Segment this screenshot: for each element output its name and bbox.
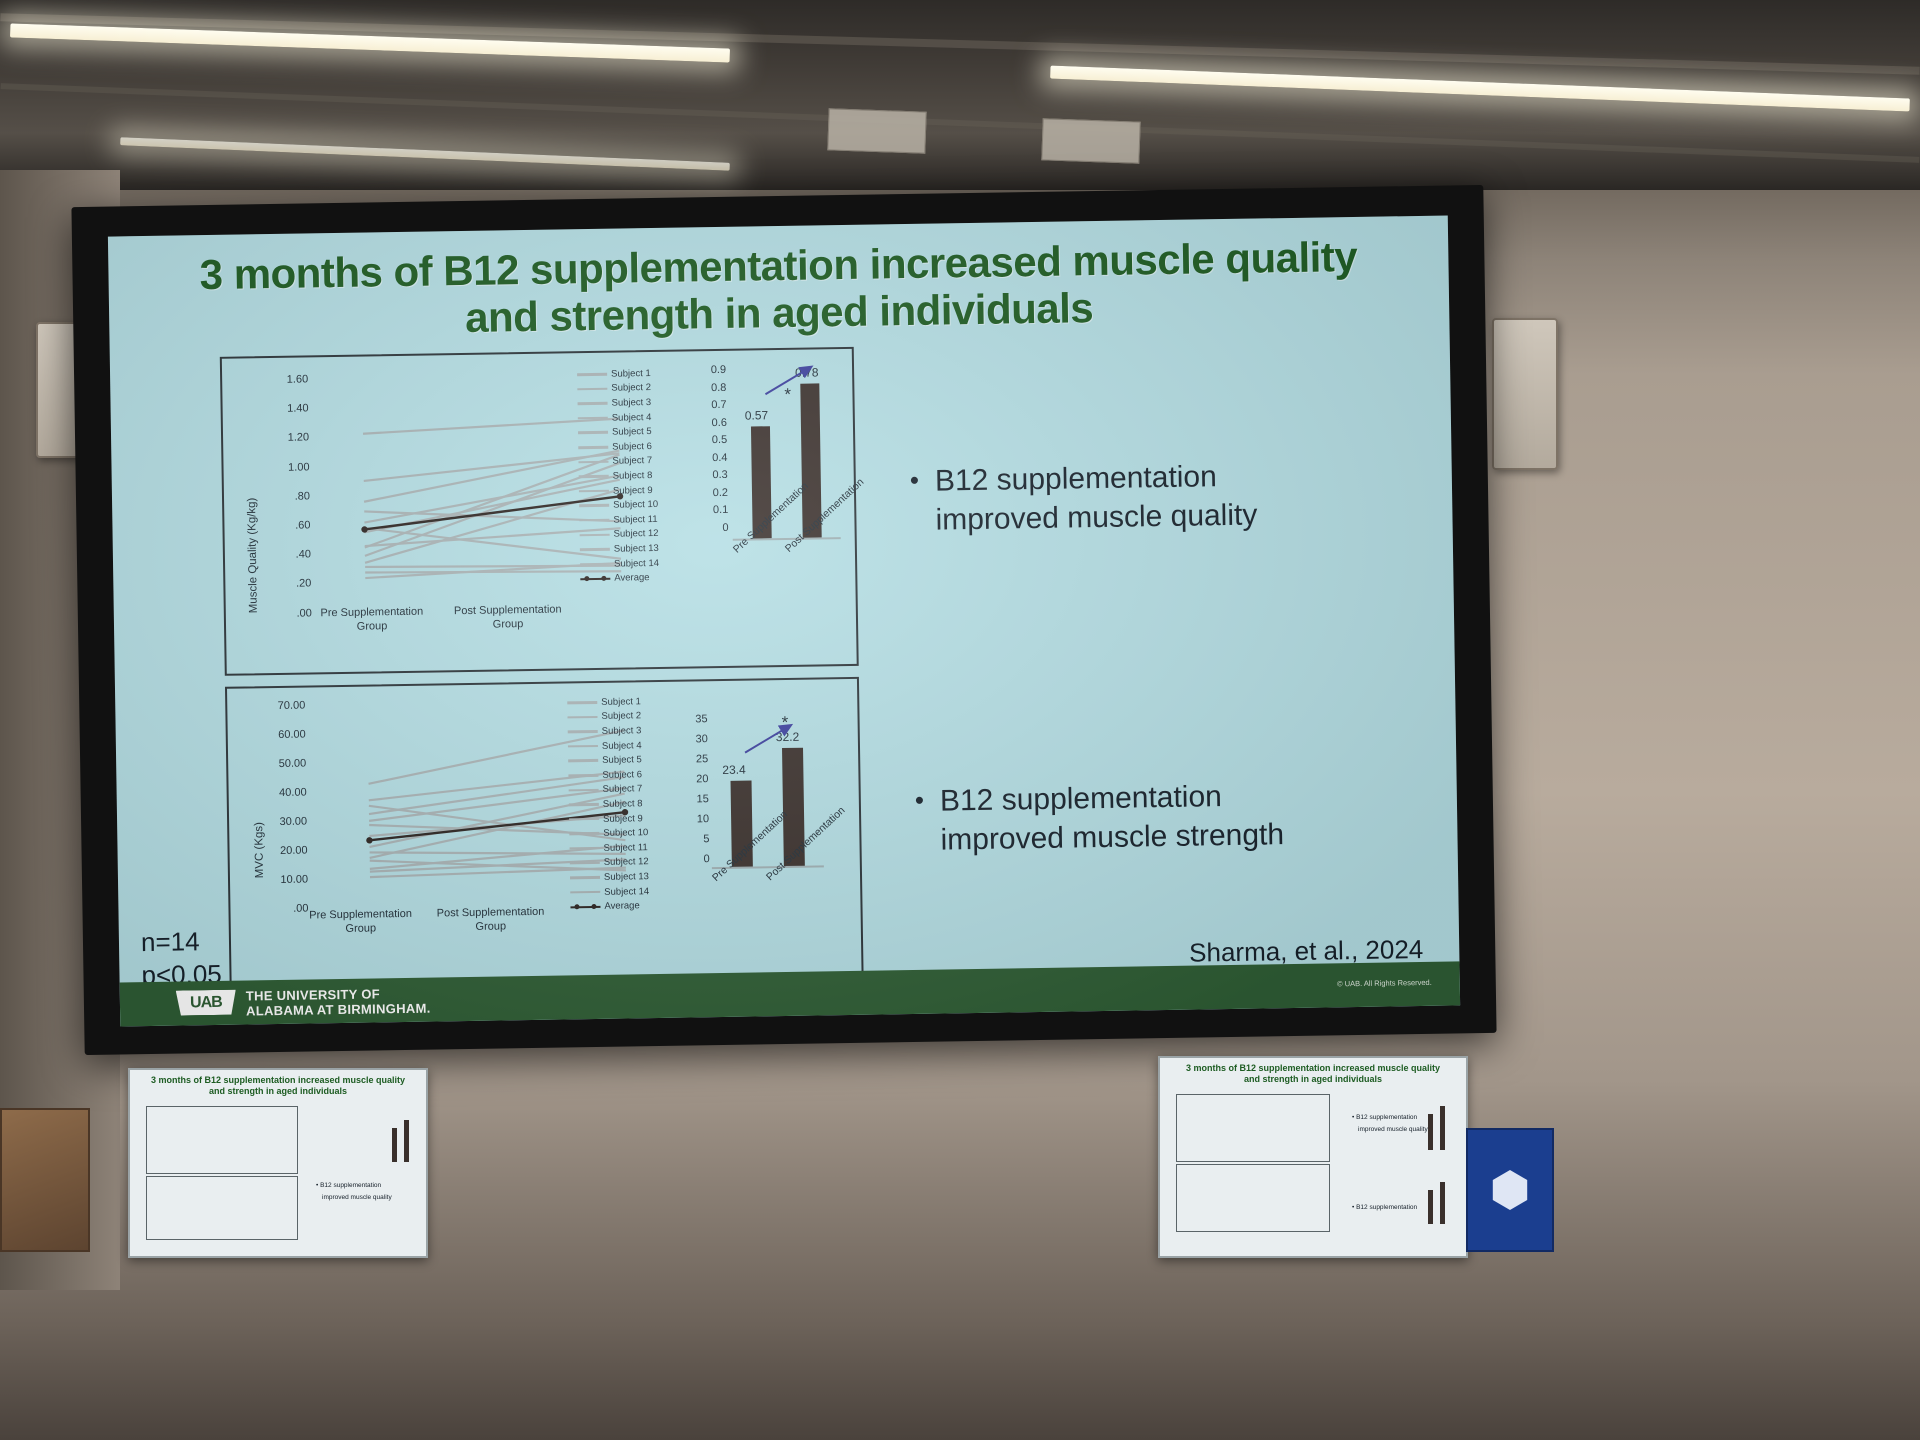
bar-y-tick: 35 [681, 713, 707, 725]
average-marker [366, 837, 372, 843]
legend-line-icon [569, 818, 599, 821]
legend-line-icon [568, 730, 598, 733]
chart-panel-muscle-quality: Muscle Quality (Kg/kg) 1.601.401.201.00.… [220, 347, 859, 676]
legend-label: Subject 1 [611, 368, 651, 380]
legend-label: Subject 3 [602, 725, 642, 737]
legend-line-icon [570, 847, 600, 850]
university-line-2: ALABAMA AT BIRMINGHAM. [246, 1001, 431, 1019]
legend-label: Subject 13 [604, 871, 649, 883]
x-tick-pre-line2: Group [302, 619, 442, 635]
copyright-notice: © UAB. All Rights Reserved. [1337, 978, 1432, 988]
legend-item: Subject 10 [569, 826, 648, 842]
legend-label: Subject 5 [612, 426, 652, 438]
monitor-right-mini-bar-3 [1428, 1190, 1433, 1224]
legend-label: Subject 7 [603, 784, 643, 796]
bar-label-pre-muscle-quality: 0.57 [745, 408, 769, 422]
bar-y-tick: 0.9 [700, 364, 726, 376]
legend-label: Subject 12 [614, 528, 659, 540]
x-tick-pre-line1: Pre Supplementation [302, 605, 442, 621]
x-tick-pre-mvc: Pre Supplementation Group [290, 908, 430, 938]
legend-item: Subject 5 [568, 753, 647, 769]
legend-item: Subject 13 [580, 541, 659, 557]
monitor-left-title-line-2: and strength in aged individuals [130, 1086, 426, 1097]
legend-line-icon [567, 716, 597, 719]
legend-item: Subject 10 [579, 497, 658, 513]
monitor-right-title-line-2: and strength in aged individuals [1160, 1074, 1466, 1085]
legend-label: Subject 8 [613, 470, 653, 482]
legend-muscle-quality: Subject 1Subject 2Subject 3Subject 4Subj… [577, 366, 659, 586]
bar-y-tick: 0.8 [700, 381, 726, 393]
monitor-right-mini-bar-4 [1440, 1182, 1445, 1224]
legend-item: Subject 6 [568, 767, 647, 783]
legend-label: Subject 11 [603, 842, 647, 854]
bar-y-tick: 5 [683, 833, 709, 845]
legend-label: Subject 6 [602, 769, 642, 781]
bar-y-tick: 0.5 [701, 434, 727, 446]
legend-label: Subject 2 [601, 711, 641, 723]
bar-label-pre-mvc: 23.4 [722, 763, 746, 777]
legend-item: Subject 9 [579, 483, 658, 499]
legend-line-icon [580, 533, 610, 536]
legend-line-icon [579, 475, 609, 478]
bar-y-tick: 0.3 [702, 469, 728, 481]
monitor-left-mini-bar-2 [404, 1120, 409, 1162]
legend-item: Subject 1 [567, 694, 646, 710]
bullet-text-2: B12 supplementation improved muscle stre… [940, 776, 1285, 859]
trend-arrow-icon-mvc [742, 720, 799, 757]
monitor-left-bullet-1: • B12 supplementation [316, 1182, 381, 1191]
bullet-1-line-1: B12 supplementation [935, 460, 1217, 497]
legend-line-icon [578, 460, 608, 463]
y-tick: 1.40 [261, 403, 309, 416]
monitor-left-title-line-1: 3 months of B12 supplementation increase… [130, 1075, 426, 1086]
legend-item: Subject 12 [570, 855, 649, 871]
bar-y-ticks-mvc: 35302520151050 [677, 705, 837, 708]
legend-label: Subject 14 [614, 557, 659, 569]
legend-item: Subject 1 [577, 366, 656, 382]
legend-label: Subject 4 [602, 740, 642, 752]
legend-mvc: Subject 1Subject 2Subject 3Subject 4Subj… [567, 694, 649, 914]
legend-item: Subject 2 [577, 381, 656, 397]
legend-line-icon [568, 759, 598, 762]
legend-label: Subject 6 [612, 441, 652, 453]
legend-line-icon [577, 387, 607, 390]
legend-line-icon [578, 402, 608, 405]
x-tick-post-line1: Post Supplementation [438, 603, 578, 619]
bar-chart-mvc: 35302520151050 23.4 32.2 * Pre Supplemen… [677, 705, 840, 927]
legend-label: Subject 9 [603, 813, 643, 825]
bar-y-tick: 0.4 [701, 451, 727, 463]
ceiling-speaker-2 [1041, 118, 1140, 163]
bullet-marker-1: • [910, 462, 920, 540]
bar-y-tick: 0.1 [702, 504, 728, 516]
legend-label: Subject 3 [611, 397, 651, 409]
legend-line-icon [570, 862, 600, 865]
legend-label: Subject 11 [613, 514, 657, 526]
legend-label: Subject 10 [603, 827, 648, 839]
legend-item: Subject 4 [578, 410, 657, 426]
legend-label: Subject 13 [614, 543, 659, 555]
legend-line-icon [579, 504, 609, 507]
legend-average-line-icon [580, 577, 610, 579]
legend-item: Subject 4 [568, 738, 647, 754]
bar-y-tick: 0 [702, 521, 728, 533]
x-tick-pre-mvc-line2: Group [291, 921, 431, 937]
significance-star-muscle-quality: * [784, 386, 791, 403]
legend-item: Subject 5 [578, 424, 657, 440]
legend-line-icon [570, 891, 600, 894]
x-tick-post-mvc: Post Supplementation Group [420, 906, 560, 936]
legend-line-icon [569, 789, 599, 792]
legend-item: Average [580, 570, 659, 586]
sign-hex-icon [1490, 1170, 1530, 1210]
significance-star-mvc: * [781, 714, 788, 731]
monitor-right-title: 3 months of B12 supplementation increase… [1160, 1063, 1466, 1085]
legend-line-icon [569, 832, 599, 835]
bullet-text-1: B12 supplementation improved muscle qual… [935, 457, 1258, 540]
y-tick: 30.00 [259, 816, 307, 829]
legend-item: Subject 3 [568, 723, 647, 739]
legend-label: Subject 8 [603, 798, 643, 810]
x-tick-pre-mvc-line1: Pre Supplementation [290, 908, 430, 924]
bar-y-tick: 30 [682, 733, 708, 745]
monitor-right-chart-panel [1176, 1094, 1330, 1162]
x-tick-post-line2: Group [438, 617, 578, 633]
monitor-left-bullet-2: improved muscle quality [322, 1194, 392, 1203]
projector-screen-frame: 3 months of B12 supplementation increase… [71, 185, 1496, 1055]
y-axis-label-muscle-quality: Muscle Quality (Kg/kg) [246, 498, 260, 614]
legend-label: Subject 14 [604, 886, 649, 898]
legend-line-icon [568, 745, 598, 748]
bar-y-tick: 25 [682, 753, 708, 765]
y-tick: .80 [262, 490, 310, 503]
wall-speaker-right [1492, 318, 1558, 470]
page-title: 3 months of B12 supplementation increase… [108, 232, 1449, 348]
legend-line-icon [578, 431, 608, 434]
bullet-muscle-strength: • B12 supplementation improved muscle st… [915, 775, 1386, 860]
bullet-marker-2: • [915, 782, 925, 860]
legend-item: Subject 14 [580, 556, 659, 572]
bar-chart-muscle-quality: 0.90.80.70.60.50.40.30.20.10 0.57 0.78 *… [692, 359, 846, 591]
x-tick-post-mvc-line2: Group [421, 919, 561, 935]
bar-y-ticks-muscle-quality: 0.90.80.70.60.50.40.30.20.10 [692, 359, 842, 361]
bullet-2-line-1: B12 supplementation [940, 780, 1222, 817]
y-tick: .40 [263, 549, 311, 562]
monitor-left-chart-panel-2 [146, 1176, 298, 1240]
confidence-monitor-left: 3 months of B12 supplementation increase… [128, 1068, 428, 1258]
university-name: THE UNIVERSITY OF ALABAMA AT BIRMINGHAM. [246, 986, 431, 1020]
legend-item: Subject 11 [579, 512, 658, 528]
legend-label: Subject 9 [613, 485, 653, 497]
legend-item: Subject 11 [569, 840, 648, 856]
legend-line-icon [580, 548, 610, 551]
legend-item: Subject 7 [569, 782, 648, 798]
y-tick: 20.00 [259, 845, 307, 858]
legend-line-icon [568, 774, 598, 777]
legend-item: Subject 9 [569, 811, 648, 827]
blue-wall-sign [1466, 1128, 1554, 1252]
bar-y-tick: 0.2 [702, 486, 728, 498]
bar-y-tick: 0.7 [701, 399, 727, 411]
y-tick: .20 [263, 578, 311, 591]
y-tick: 70.00 [257, 700, 305, 713]
legend-item: Subject 14 [570, 884, 649, 900]
lecture-room-background: 3 months of B12 supplementation increase… [0, 0, 1920, 1440]
monitor-left-chart-panel [146, 1106, 298, 1174]
monitor-right-bullet-1: • B12 supplementation [1352, 1114, 1417, 1123]
legend-item: Subject 13 [570, 869, 649, 885]
bar-y-tick: 20 [682, 773, 708, 785]
wall-poster [0, 1108, 90, 1252]
bullet-muscle-quality: • B12 supplementation improved muscle qu… [910, 455, 1381, 540]
bar-y-tick: 15 [683, 793, 709, 805]
y-axis-ticks-mvc: 70.0060.0050.0040.0030.0020.0010.00.00 [227, 679, 857, 689]
monitor-right-mini-bar-2 [1440, 1106, 1445, 1150]
legend-line-icon [578, 446, 608, 449]
bar-y-tick: 0 [684, 853, 710, 865]
n-value: n=14 [141, 925, 222, 959]
legend-item: Subject 12 [580, 526, 659, 542]
y-tick: 40.00 [259, 787, 307, 800]
legend-line-icon [579, 519, 609, 522]
x-tick-post-mvc-line1: Post Supplementation [420, 906, 560, 922]
legend-line-icon [570, 876, 600, 879]
ceiling-speaker-1 [827, 108, 926, 153]
monitor-right-bullet-2: improved muscle quality [1358, 1126, 1428, 1135]
legend-line-icon [580, 562, 610, 565]
monitor-left-title: 3 months of B12 supplementation increase… [130, 1075, 426, 1097]
legend-item: Subject 3 [577, 395, 656, 411]
y-axis-ticks-muscle-quality: 1.601.401.201.00.80.60.40.20.00 [222, 349, 852, 359]
uab-logo-icon: UAB [176, 990, 236, 1016]
legend-item: Average [570, 898, 649, 914]
legend-line-icon [577, 373, 607, 376]
legend-item: Subject 8 [579, 468, 658, 484]
bullet-2-line-2: improved muscle strength [940, 818, 1284, 856]
monitor-right-mini-bar-1 [1428, 1114, 1433, 1150]
bar-y-tick: 0.6 [701, 416, 727, 428]
monitor-right-chart-panel-2 [1176, 1164, 1330, 1232]
legend-line-icon [578, 417, 608, 420]
legend-item: Subject 8 [569, 796, 648, 812]
legend-label: Subject 12 [604, 856, 649, 868]
projected-slide: 3 months of B12 supplementation increase… [108, 216, 1460, 1027]
y-tick: 10.00 [260, 874, 308, 887]
legend-line-icon [579, 490, 609, 493]
legend-label: Average [604, 900, 639, 912]
y-tick: 1.20 [261, 432, 309, 445]
x-tick-post-muscle-quality: Post Supplementation Group [438, 603, 578, 633]
y-tick: 1.00 [261, 461, 309, 474]
chart-panel-mvc: MVC (Kgs) 70.0060.0050.0040.0030.0020.00… [225, 677, 864, 1001]
monitor-right-title-line-1: 3 months of B12 supplementation increase… [1160, 1063, 1466, 1074]
x-tick-pre-muscle-quality: Pre Supplementation Group [302, 605, 442, 635]
legend-label: Subject 5 [602, 754, 642, 766]
legend-label: Subject 2 [611, 382, 651, 394]
y-tick: 1.60 [260, 373, 308, 386]
bullet-1-line-2: improved muscle quality [935, 499, 1257, 537]
legend-line-icon [569, 803, 599, 806]
bar-y-tick: 10 [683, 813, 709, 825]
legend-label: Subject 4 [612, 412, 652, 424]
legend-label: Subject 7 [612, 455, 652, 467]
legend-item: Subject 2 [567, 709, 646, 725]
legend-label: Subject 10 [613, 499, 658, 511]
legend-line-icon [567, 701, 597, 704]
confidence-monitor-right: 3 months of B12 supplementation increase… [1158, 1056, 1468, 1258]
legend-item: Subject 7 [578, 454, 657, 470]
monitor-left-mini-bar-1 [392, 1128, 397, 1162]
legend-item: Subject 6 [578, 439, 657, 455]
y-tick: .60 [262, 519, 310, 532]
legend-label: Average [614, 572, 649, 584]
y-tick: 50.00 [258, 758, 306, 771]
y-tick: 60.00 [258, 729, 306, 742]
legend-label: Subject 1 [601, 696, 641, 708]
legend-average-line-icon [570, 906, 600, 908]
monitor-right-bullet-3: • B12 supplementation [1352, 1204, 1417, 1213]
